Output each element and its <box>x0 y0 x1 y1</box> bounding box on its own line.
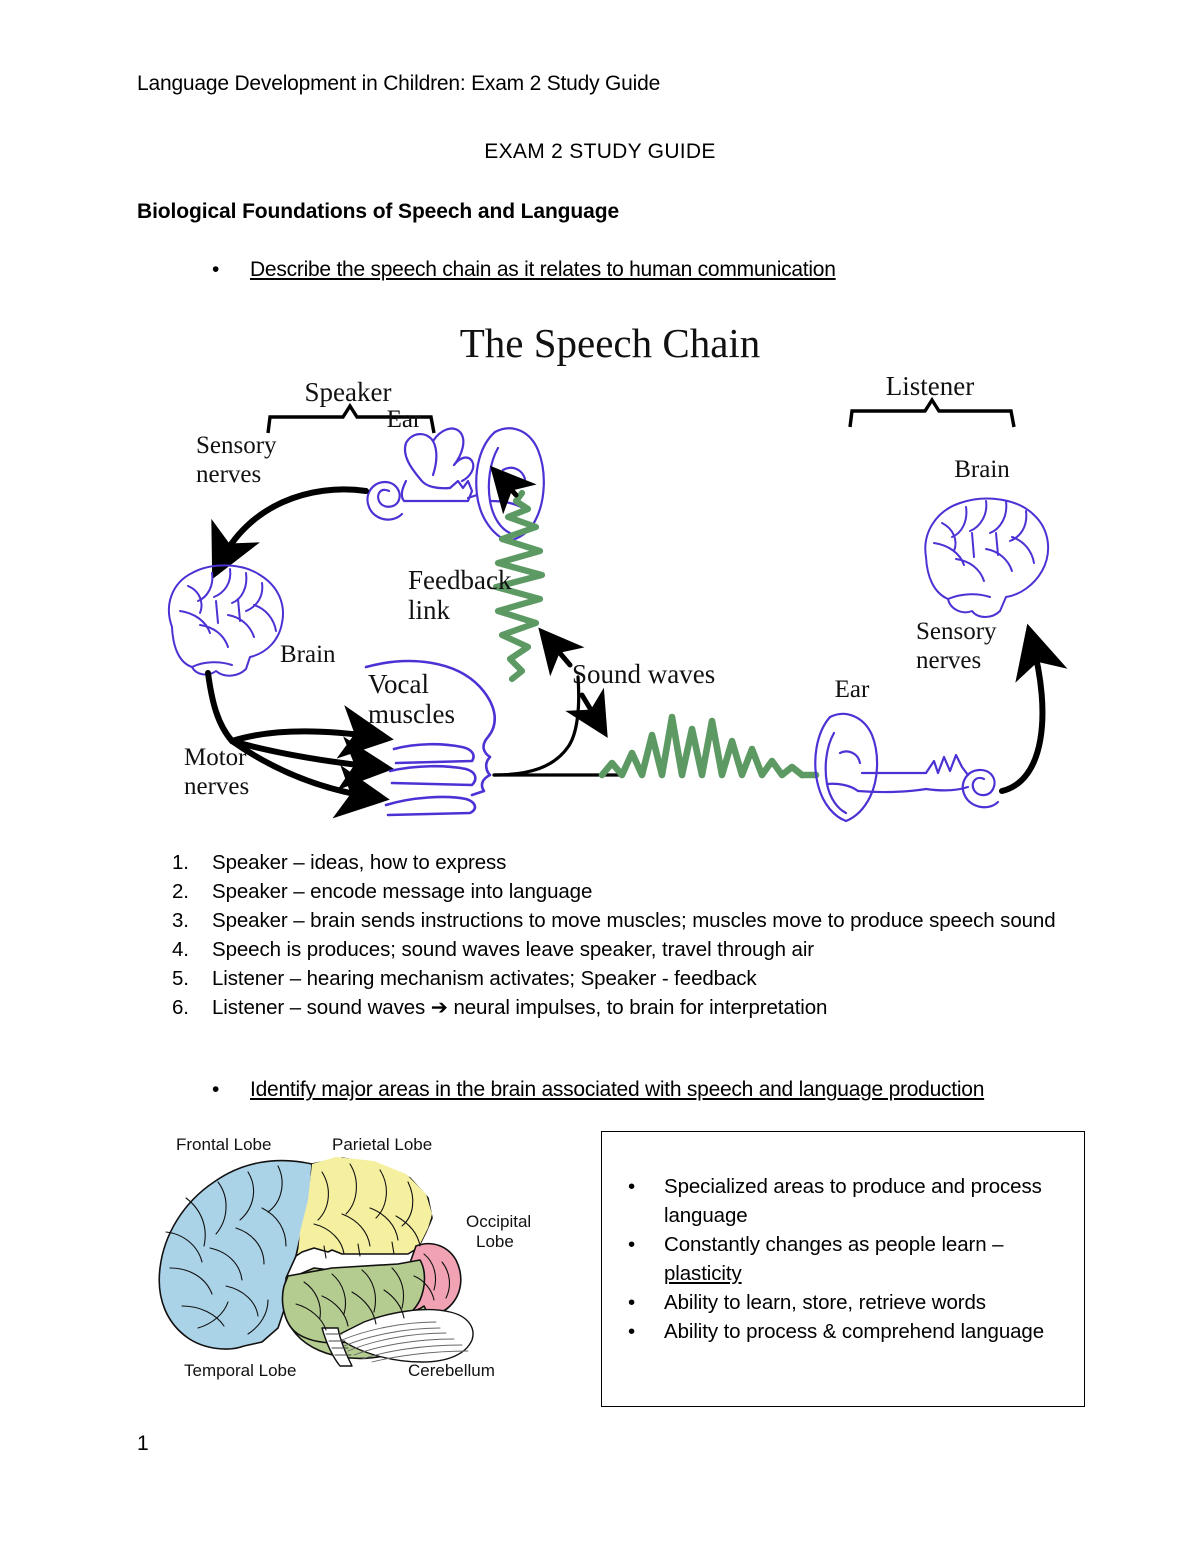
bullet-marker-icon: • <box>212 258 219 282</box>
cerebellum-label: Cerebellum <box>408 1361 495 1380</box>
list-item-text: Speaker – brain sends instructions to mo… <box>212 909 1056 932</box>
listener-sensory-nerves-label-line2: nerves <box>916 647 981 674</box>
bullet-marker-icon: • <box>628 1317 635 1346</box>
list-item-text: Speaker – encode message into language <box>212 880 592 903</box>
list-marker: 2. <box>172 877 189 906</box>
sound-wave-illustration <box>602 717 802 775</box>
figure-title: The Speech Chain <box>460 320 761 366</box>
list-item-text: Speech is produces; sound waves leave sp… <box>212 938 814 961</box>
section-heading: Biological Foundations of Speech and Lan… <box>137 200 619 224</box>
list-marker: 6. <box>172 993 189 1022</box>
feedback-link-arrow <box>500 477 516 495</box>
list-marker: 5. <box>172 964 189 993</box>
listener-bracket <box>850 400 1014 427</box>
list-item: 2. Speaker – encode message into languag… <box>170 877 1090 906</box>
list-item-text: Listener – hearing mechanism activates; … <box>212 967 757 990</box>
speaker-sensory-nerves-label-line2: nerves <box>196 461 261 488</box>
bullet-marker-icon: • <box>212 1078 219 1102</box>
brain-lobes-diagram: Frontal Lobe Parietal Lobe Occipital Lob… <box>136 1128 536 1388</box>
concept-text: Constantly changes as people learn – <box>664 1233 1003 1256</box>
occipital-lobe-label-line2: Lobe <box>476 1232 514 1251</box>
list-marker: 1. <box>172 848 189 877</box>
brain-language-concepts-box: • Specialized areas to produce and proce… <box>601 1131 1085 1407</box>
listener-ear-label: Ear <box>835 676 870 703</box>
bullet-marker-icon: • <box>628 1288 635 1317</box>
speaker-sensory-nerve-arrow <box>220 489 366 563</box>
bullet-label: Describe the speech chain as it relates … <box>250 258 836 282</box>
vocal-muscles-label-line2: muscles <box>368 699 455 729</box>
bullet-marker-icon: • <box>628 1172 635 1201</box>
listener-sensory-nerve-arrow <box>1002 641 1042 791</box>
parietal-lobe-fill-extra <box>298 1157 432 1254</box>
motor-nerve-trunk <box>208 673 232 741</box>
concept-text: Specialized areas to produce and process… <box>664 1175 1042 1227</box>
speech-chain-steps-list: 1. Speaker – ideas, how to express 2. Sp… <box>170 848 1090 1022</box>
list-marker: 4. <box>172 935 189 964</box>
list-item: 3. Speaker – brain sends instructions to… <box>170 906 1090 935</box>
document-page: Language Development in Children: Exam 2… <box>0 0 1200 1553</box>
speaker-sensory-nerves-label-line1: Sensory <box>196 432 277 459</box>
concept-text: Ability to learn, store, retrieve words <box>664 1291 986 1314</box>
speaker-brain-label: Brain <box>280 641 336 668</box>
bullet-marker-icon: • <box>628 1230 635 1259</box>
mouth-output-path <box>494 677 579 775</box>
motor-nerves-label-line2: nerves <box>184 773 249 800</box>
listener-brain-label: Brain <box>954 456 1010 483</box>
speaker-brain-illustration <box>169 565 283 675</box>
list-item: • Ability to process & comprehend langua… <box>626 1317 1070 1346</box>
motor-nerve-arrow-1 <box>232 731 376 741</box>
feedback-link-label-line2: link <box>408 595 451 625</box>
sound-waves-arrow-up <box>548 639 570 665</box>
list-marker: 3. <box>172 906 189 935</box>
occipital-lobe-label-line1: Occipital <box>466 1212 531 1231</box>
list-item: • Constantly changes as people learn – p… <box>626 1230 1070 1288</box>
list-item: 1. Speaker – ideas, how to express <box>170 848 1090 877</box>
document-header: Language Development in Children: Exam 2… <box>137 72 660 96</box>
speaker-label: Speaker <box>305 377 392 407</box>
speaker-ear-label: Ear <box>387 406 422 433</box>
list-item: • Ability to learn, store, retrieve word… <box>626 1288 1070 1317</box>
parietal-lobe-label: Parietal Lobe <box>332 1135 432 1154</box>
listener-label: Listener <box>886 371 974 401</box>
concept-text: Ability to process & comprehend language <box>664 1320 1044 1343</box>
listener-brain-illustration <box>925 499 1048 617</box>
feedback-link-label-line1: Feedback <box>408 565 512 595</box>
bullet-label: Identify major areas in the brain associ… <box>250 1078 984 1102</box>
vocal-muscles-label-line1: Vocal <box>368 669 429 699</box>
concept-text-emphasis: plasticity <box>664 1262 742 1285</box>
speaker-ear-illustration <box>367 428 543 541</box>
list-item-text: Speaker – ideas, how to express <box>212 851 506 874</box>
listener-ear-illustration <box>815 714 998 821</box>
speech-chain-diagram: The Speech Chain Speaker Listener <box>150 305 1070 835</box>
page-number: 1 <box>137 1432 149 1456</box>
frontal-lobe-label: Frontal Lobe <box>176 1135 271 1154</box>
list-item: 5. Listener – hearing mechanism activate… <box>170 964 1090 993</box>
list-item-text: Listener – sound waves ➔ neural impulses… <box>212 996 827 1019</box>
list-item: • Specialized areas to produce and proce… <box>626 1172 1070 1230</box>
list-item: 6. Listener – sound waves ➔ neural impul… <box>170 993 1090 1022</box>
listener-sensory-nerves-label-line1: Sensory <box>916 618 997 645</box>
list-item: 4. Speech is produces; sound waves leave… <box>170 935 1090 964</box>
sound-waves-label: Sound waves <box>572 659 715 689</box>
page-title: EXAM 2 STUDY GUIDE <box>0 140 1200 164</box>
sound-waves-arrow-down <box>582 695 600 725</box>
temporal-lobe-label: Temporal Lobe <box>184 1361 296 1380</box>
